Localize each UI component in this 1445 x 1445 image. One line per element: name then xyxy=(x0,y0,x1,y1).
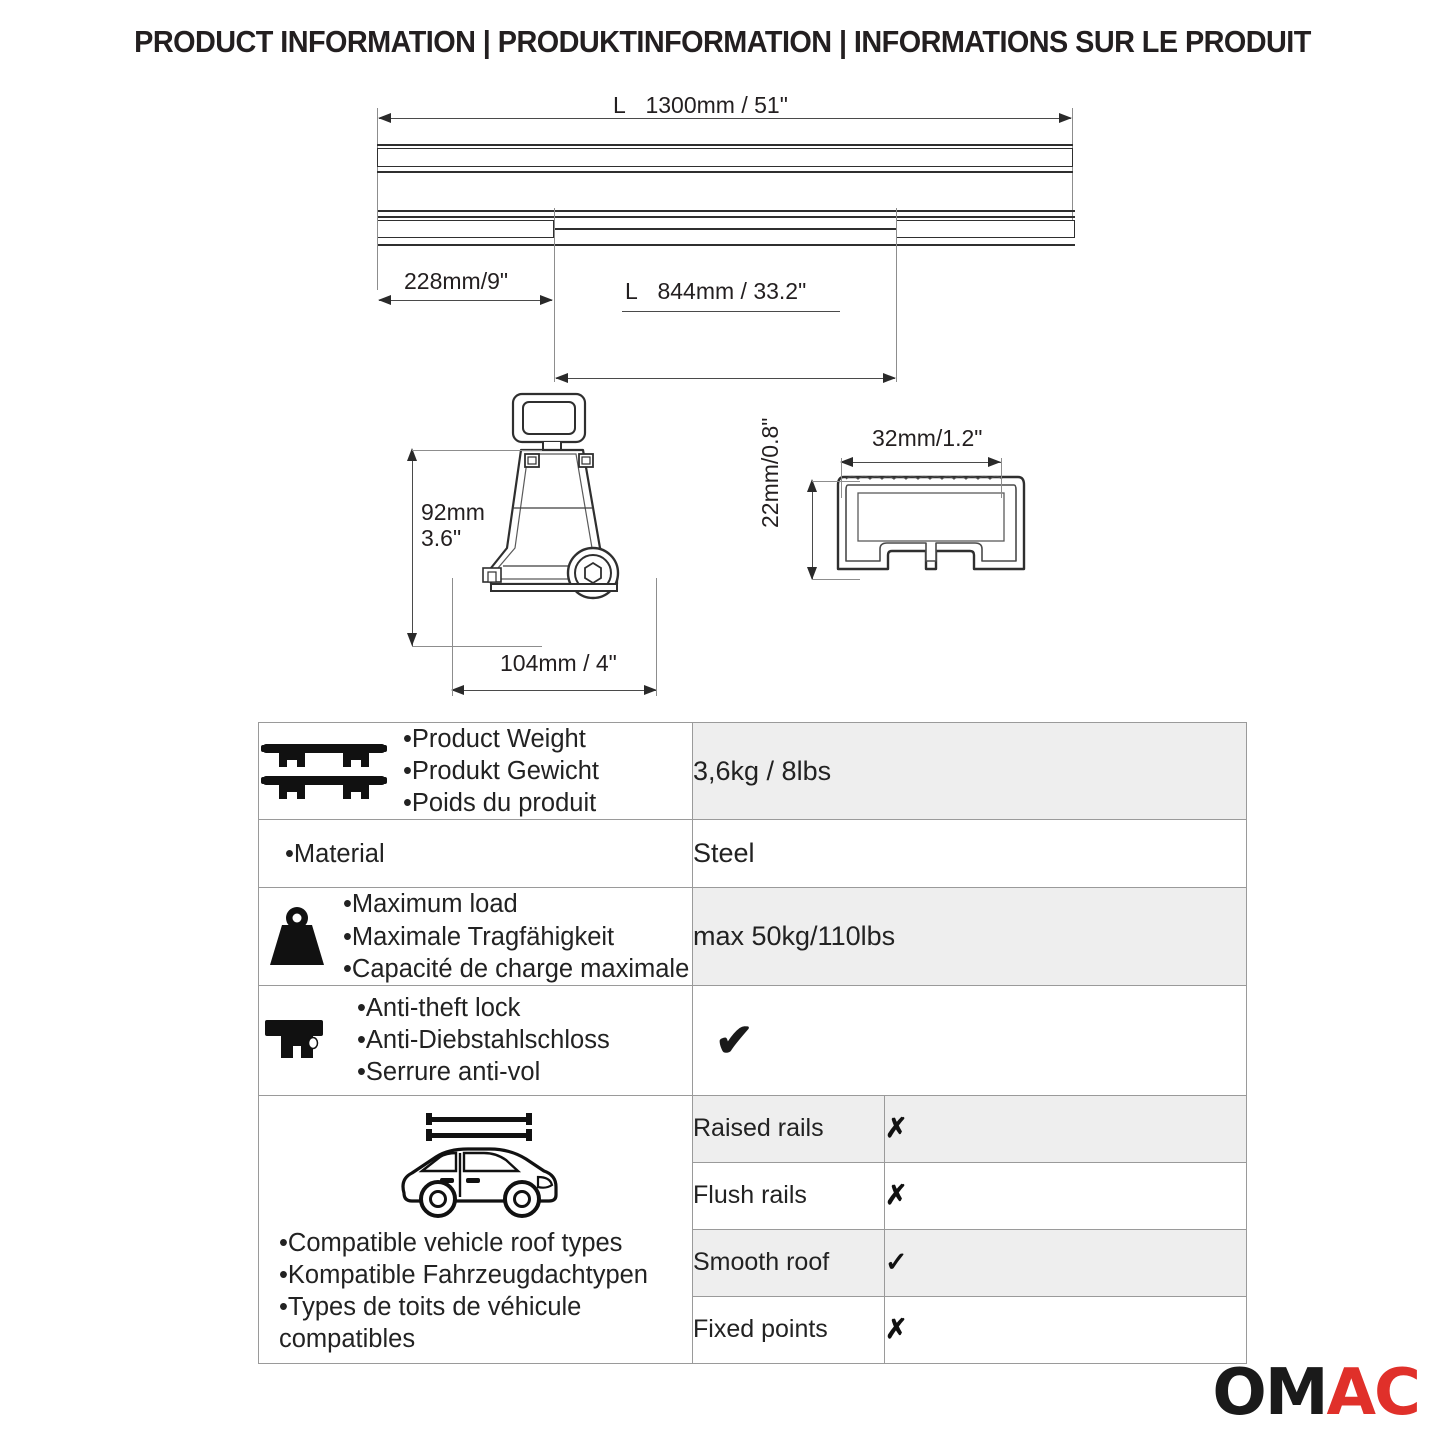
foot-height-top-ext xyxy=(412,450,542,451)
span-label-underline xyxy=(622,311,840,312)
arrow-right-offset xyxy=(540,295,553,305)
second-bar-upper-edge-2 xyxy=(377,216,1075,218)
logo-text-ac: AC xyxy=(1327,1356,1420,1430)
lock-label-cell: •Anti-theft lock •Anti-Diebstahlschloss … xyxy=(259,985,693,1095)
weight-label-cell: •Product Weight •Produkt Gewicht •Poids … xyxy=(259,723,693,820)
roof-type-mark: ✗ xyxy=(885,1296,1247,1363)
profile-width-right-ext xyxy=(1001,458,1002,498)
profile-height-label: 22mm/0.8" xyxy=(757,418,784,528)
max-load-value-cell: max 50kg/110lbs xyxy=(693,888,1247,985)
foot-right-projection xyxy=(896,208,897,382)
roof-type-name: Fixed points xyxy=(693,1296,885,1363)
omac-logo: OMAC xyxy=(1212,1361,1419,1425)
second-bar-middle-line xyxy=(554,228,896,230)
profile-height-bottom-ext xyxy=(812,579,860,580)
foot-width-label: 104mm / 4" xyxy=(500,650,617,677)
overall-length-label: L 1300mm / 51" xyxy=(613,92,788,119)
foot-width-left-ext xyxy=(452,578,453,696)
technical-drawing: L 1300mm / 51" 228mm/9" L 844mm / 33.2" xyxy=(0,78,1445,708)
foot-width-dimension-line xyxy=(452,690,656,691)
second-bar-upper-edge xyxy=(377,210,1075,212)
lock-label-list: •Anti-theft lock •Anti-Diebstahlschloss … xyxy=(357,992,610,1088)
second-bar-left-foot xyxy=(377,220,554,238)
page-title: PRODUCT INFORMATION | PRODUKTINFORMATION… xyxy=(51,24,1395,60)
overall-dimension-line xyxy=(379,118,1071,119)
roof-type-name: Flush rails xyxy=(693,1162,885,1229)
lock-value-cell: ✔ xyxy=(693,985,1247,1095)
lock-check-icon: ✔ xyxy=(715,1014,754,1066)
roof-type-mark: ✓ xyxy=(885,1229,1247,1296)
profile-width-label: 32mm/1.2" xyxy=(872,425,982,452)
foot-height-label: 92mm 3.6" xyxy=(421,500,485,552)
table-row: •Product Weight •Produkt Gewicht •Poids … xyxy=(259,723,1247,820)
span-dimension-line xyxy=(556,378,895,379)
arrow-down-height xyxy=(407,633,417,646)
arrow-right-overall xyxy=(1059,113,1072,123)
bar-cross-section-drawing xyxy=(830,463,1050,593)
material-value-cell: Steel xyxy=(693,820,1247,888)
foot-offset-label: 228mm/9" xyxy=(404,268,508,295)
foot-width-right-ext xyxy=(656,578,657,696)
arrow-right-profile-width xyxy=(988,457,1001,467)
profile-height-top-ext xyxy=(812,481,860,482)
table-row: •Maximum load •Maximale Tragfähigkeit •C… xyxy=(259,888,1247,985)
roof-type-name: Smooth roof xyxy=(693,1229,885,1296)
lock-icon xyxy=(259,1014,333,1066)
table-row: •Anti-theft lock •Anti-Diebstahlschloss … xyxy=(259,985,1247,1095)
second-bar-lower-edge xyxy=(377,244,1075,246)
roof-type-mark: ✗ xyxy=(885,1162,1247,1229)
specification-table: •Product Weight •Produkt Gewicht •Poids … xyxy=(258,722,1247,1364)
arrow-right-span xyxy=(883,373,896,383)
logo-text-om: OM xyxy=(1212,1356,1326,1430)
second-bar-right-foot xyxy=(896,220,1075,238)
max-load-label-cell: •Maximum load •Maximale Tragfähigkeit •C… xyxy=(259,888,693,985)
arrow-left-span xyxy=(555,373,568,383)
table-row: •Compatible vehicle roof types •Kompatib… xyxy=(259,1095,1247,1162)
foot-height-bottom-ext xyxy=(412,646,542,647)
profile-width-dimension-line xyxy=(841,462,1001,463)
roof-type-name: Raised rails xyxy=(693,1095,885,1162)
arrow-left-offset xyxy=(378,295,391,305)
span-length-label: L 844mm / 33.2" xyxy=(625,278,806,305)
car-with-roof-bars-icon xyxy=(386,1107,566,1223)
weight-value-cell: 3,6kg / 8lbs xyxy=(693,723,1247,820)
compat-label-list: •Compatible vehicle roof types •Kompatib… xyxy=(259,1223,648,1356)
profile-height-dimension-line xyxy=(812,481,813,579)
table-row: •Material Steel xyxy=(259,820,1247,888)
top-bar-upper-edge xyxy=(377,144,1073,146)
foot-offset-dimension-line xyxy=(379,300,552,301)
weight-icon xyxy=(259,905,335,969)
profile-width-left-ext xyxy=(841,458,842,498)
weight-label-list: •Product Weight •Produkt Gewicht •Poids … xyxy=(403,723,599,819)
max-load-label-list: •Maximum load •Maximale Tragfähigkeit •C… xyxy=(343,888,689,984)
crossbars-icon xyxy=(259,736,389,806)
arrow-left-overall xyxy=(378,113,391,123)
foot-left-projection xyxy=(554,208,555,382)
material-label-cell: •Material xyxy=(259,820,693,888)
extension-line-right xyxy=(1072,108,1073,238)
top-bar-lower-edge xyxy=(377,171,1073,173)
top-bar-body xyxy=(377,148,1073,167)
foot-height-dimension-line xyxy=(412,450,413,646)
bar-left-projection xyxy=(377,208,378,290)
compat-label-cell: •Compatible vehicle roof types •Kompatib… xyxy=(259,1095,693,1363)
roof-type-mark: ✗ xyxy=(885,1095,1247,1162)
